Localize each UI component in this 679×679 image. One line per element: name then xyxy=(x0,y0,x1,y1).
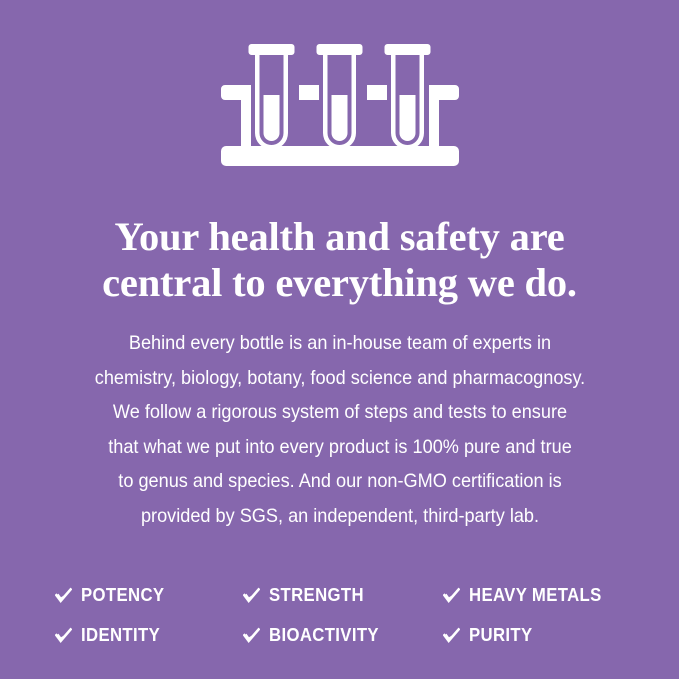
check-mark-icon xyxy=(55,627,72,644)
headline-line: central to everything we do. xyxy=(40,260,640,306)
check-mark-icon xyxy=(443,587,460,604)
body-line: that what we put into every product is 1… xyxy=(59,430,620,465)
checklist-item-purity: PURITY xyxy=(443,625,635,645)
check-mark-icon xyxy=(243,587,260,604)
body-line: We follow a rigorous system of steps and… xyxy=(59,395,620,430)
checklist-item-potency: POTENCY xyxy=(55,585,243,605)
quality-checklist: POTENCY STRENGTH HEAVY METALS xyxy=(55,575,635,655)
checklist-item-label: BIOACTIVITY xyxy=(269,625,379,645)
checklist-item-identity: IDENTITY xyxy=(55,625,243,645)
checklist-item-label: STRENGTH xyxy=(269,585,364,605)
checklist-item-heavy-metals: HEAVY METALS xyxy=(443,585,635,605)
body-line: chemistry, biology, botany, food science… xyxy=(59,361,620,396)
checklist-item-label: PURITY xyxy=(469,625,533,645)
checklist-item-strength: STRENGTH xyxy=(243,585,443,605)
quality-promise-panel: Your health and safety are central to ev… xyxy=(0,0,679,679)
checklist-item-bioactivity: BIOACTIVITY xyxy=(243,625,443,645)
page-title: Your health and safety are central to ev… xyxy=(40,214,640,306)
check-mark-icon xyxy=(443,627,460,644)
body-line: Behind every bottle is an in-house team … xyxy=(59,326,620,361)
body-line: to genus and species. And our non-GMO ce… xyxy=(59,464,620,499)
checklist-item-label: POTENCY xyxy=(81,585,164,605)
test-tube-rack-icon xyxy=(215,38,465,170)
checklist-item-label: IDENTITY xyxy=(81,625,160,645)
checklist-item-label: HEAVY METALS xyxy=(469,585,602,605)
body-line: provided by SGS, an independent, third-p… xyxy=(59,499,620,534)
headline-line: Your health and safety are xyxy=(40,214,640,260)
check-mark-icon xyxy=(243,627,260,644)
body-paragraph: Behind every bottle is an in-house team … xyxy=(40,326,640,533)
check-mark-icon xyxy=(55,587,72,604)
